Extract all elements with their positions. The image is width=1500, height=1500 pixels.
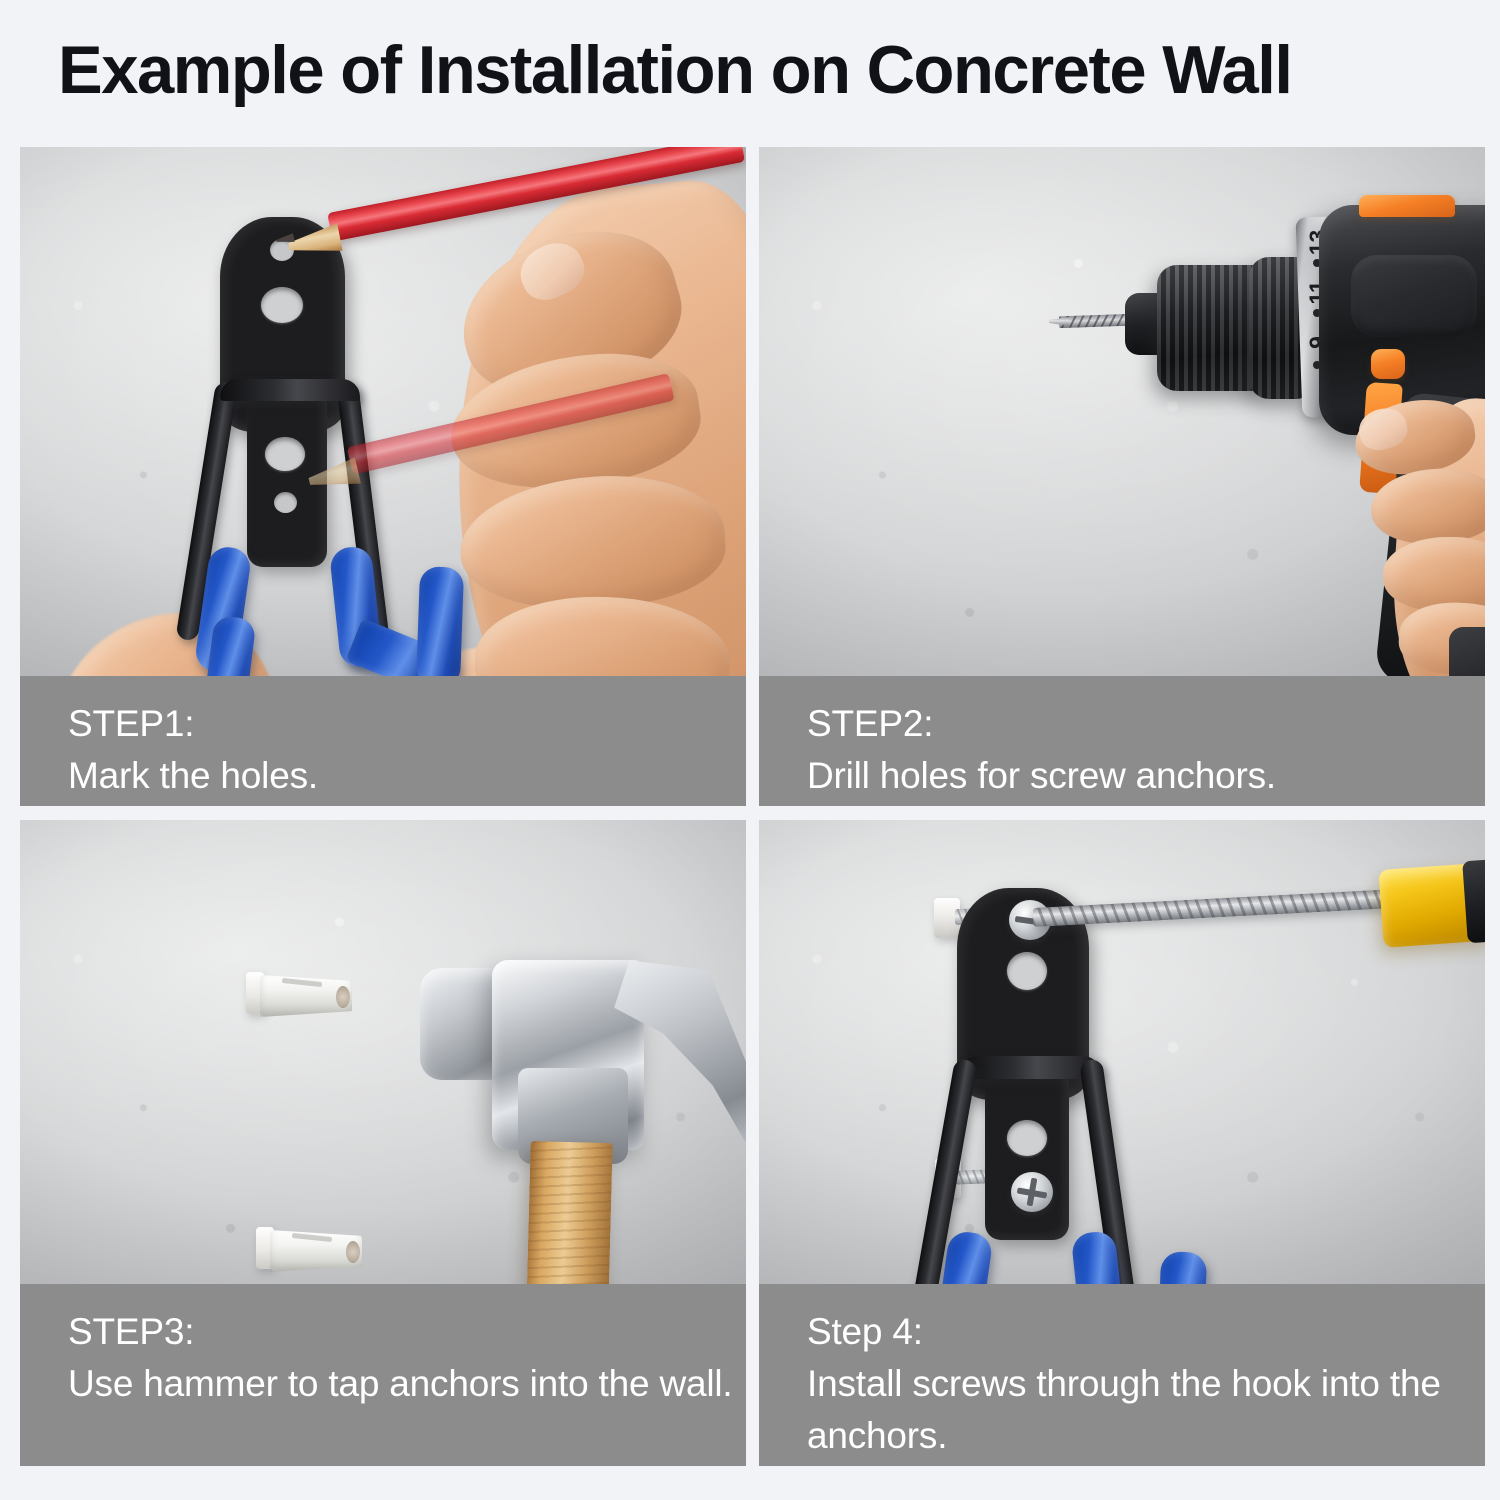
wall-anchor-1-bore: [336, 986, 350, 1008]
drill-side-panel: [1351, 255, 1477, 337]
hook-arm-bridge: [959, 1056, 1101, 1079]
install-screws-photo: [759, 820, 1485, 1284]
step-card-1: STEP1: Mark the holes.: [20, 147, 746, 806]
step-2-caption: STEP2: Drill holes for screw anchors.: [759, 676, 1485, 806]
step-3-caption: STEP3: Use hammer to tap anchors into th…: [20, 1284, 746, 1466]
steps-grid: STEP1: Mark the holes. 13 11: [20, 147, 1485, 1467]
step-2-label: STEP2:: [807, 698, 1485, 750]
keyhole-upper: [1007, 952, 1047, 990]
keyhole-upper: [261, 287, 303, 323]
hook-tip-right-end: [416, 566, 464, 676]
keyhole-lower: [1007, 1120, 1047, 1156]
step-card-3: STEP3: Use hammer to tap anchors into th…: [20, 820, 746, 1466]
hammer-handle: [521, 1141, 612, 1284]
wall-anchor-2-bore: [346, 1241, 360, 1263]
step-2-text: Drill holes for screw anchors.: [807, 750, 1485, 802]
keyhole-lower: [265, 437, 305, 471]
step-card-2: 13 11 9: [759, 147, 1485, 806]
drill-bit: [1059, 314, 1131, 329]
hook-arm-bridge: [220, 379, 360, 401]
step-1-label: STEP1:: [68, 698, 746, 750]
hook-tip-right-end: [1157, 1251, 1207, 1284]
screw-hole-bottom: [274, 492, 297, 513]
step-4-label: Step 4:: [807, 1306, 1485, 1358]
step-card-4: Step 4: Install screws through the hook …: [759, 820, 1485, 1466]
step-3-text: Use hammer to tap anchors into the wall.: [68, 1358, 746, 1410]
step-3-label: STEP3:: [68, 1306, 746, 1358]
step-1-caption: STEP1: Mark the holes.: [20, 676, 746, 806]
drill-holes-photo: 13 11 9: [759, 147, 1485, 676]
tap-anchors-photo: [20, 820, 746, 1284]
installation-guide-page: Example of Installation on Concrete Wall: [0, 0, 1500, 1500]
page-title: Example of Installation on Concrete Wall: [58, 33, 1437, 107]
step-1-text: Mark the holes.: [68, 750, 746, 802]
mark-holes-photo: [20, 147, 746, 676]
drill-battery: [1449, 627, 1485, 676]
step-4-caption: Step 4: Install screws through the hook …: [759, 1284, 1485, 1466]
step-4-text: Install screws through the hook into the…: [807, 1358, 1485, 1462]
drill-direction-switch: [1371, 349, 1405, 379]
drill-top-accent: [1359, 195, 1455, 217]
